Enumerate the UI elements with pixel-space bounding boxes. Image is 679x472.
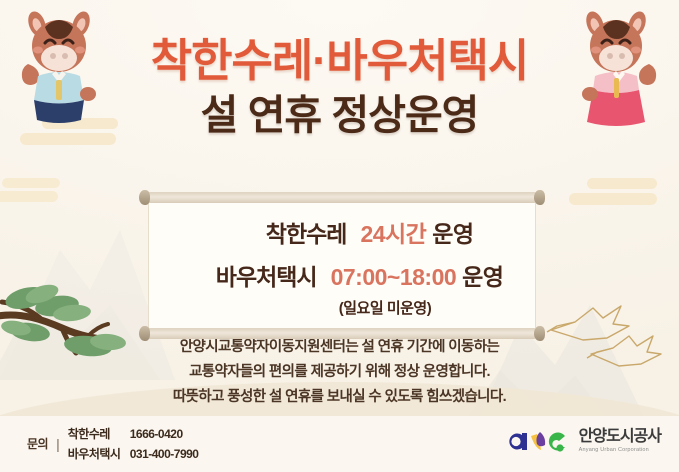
schedule-row: 바우처택시 07:00~18:00 운영 — [149, 258, 535, 292]
cloud-motif-icon — [0, 178, 60, 202]
contact-separator: | — [56, 436, 68, 452]
scroll-rod-bottom — [148, 328, 536, 339]
contact-row: 바우처택시 031-400-7990 — [68, 445, 199, 462]
contact-number[interactable]: 031-400-7990 — [130, 447, 199, 461]
schedule-value: 24시간 운영 — [360, 215, 473, 249]
contact-name: 착한수레 — [68, 425, 130, 442]
auc-logo-mark-icon — [507, 426, 573, 456]
cloud-motif-icon — [569, 178, 657, 205]
contact-name: 바우처택시 — [68, 445, 130, 462]
footer: 문의 | 착한수레 1666-0420 바우처택시 031-400-7990 — [0, 416, 679, 472]
contact-heading: 문의 — [27, 435, 56, 452]
schedule-value-unit: 운영 — [462, 264, 503, 290]
schedule-note: (일요일 미운영) — [149, 297, 535, 318]
contact-block: 문의 | 착한수레 1666-0420 바우처택시 031-400-7990 — [27, 425, 198, 462]
schedule-value: 07:00~18:00 운영 — [331, 258, 504, 292]
anyang-urban-corporation-logo: 안양도시공사 Anyang Urban Corporation — [507, 426, 661, 456]
contact-row: 착한수레 1666-0420 — [68, 425, 199, 442]
body-line: 안양시교통약자이동지원센터는 설 연휴 기간에 이동하는 — [0, 337, 679, 358]
body-line: 교통약자들의 편의를 제공하기 위해 정상 운영합니다. — [0, 362, 679, 383]
poster-title: 착한수레·바우처택시 설 연휴 정상운영 — [0, 34, 679, 140]
schedule-value-text: 07:00~18:00 — [331, 264, 457, 290]
scroll-rod-top — [148, 192, 536, 203]
schedule-label: 착한수레 — [210, 215, 360, 249]
schedule-box-body: 착한수레 24시간 운영 바우처택시 07:00~18:00 운영 (일요일 미… — [148, 203, 536, 328]
logo-english-name: Anyang Urban Corporation — [579, 448, 661, 454]
logo-korean-name: 안양도시공사 — [579, 429, 661, 445]
body-line: 따뜻하고 풍성한 설 연휴를 보내실 수 있도록 힘쓰겠습니다. — [0, 387, 679, 408]
contact-number[interactable]: 1666-0420 — [130, 427, 183, 441]
schedule-value-unit: 운영 — [432, 221, 473, 247]
title-line-2: 설 연휴 정상운영 — [0, 91, 679, 140]
schedule-value-text: 24시간 — [360, 221, 426, 247]
schedule-row: 착한수레 24시간 운영 — [149, 215, 535, 249]
poster-canvas: 착한수레·바우처택시 설 연휴 정상운영 착한수레 24시간 운영 바우처택시 … — [0, 0, 679, 472]
schedule-box: 착한수레 24시간 운영 바우처택시 07:00~18:00 운영 (일요일 미… — [148, 192, 536, 339]
title-line-1: 착한수레·바우처택시 — [0, 34, 679, 87]
body-paragraph: 안양시교통약자이동지원센터는 설 연휴 기간에 이동하는 교통약자들의 편의를 … — [0, 337, 679, 412]
schedule-label: 바우처택시 — [181, 258, 331, 292]
